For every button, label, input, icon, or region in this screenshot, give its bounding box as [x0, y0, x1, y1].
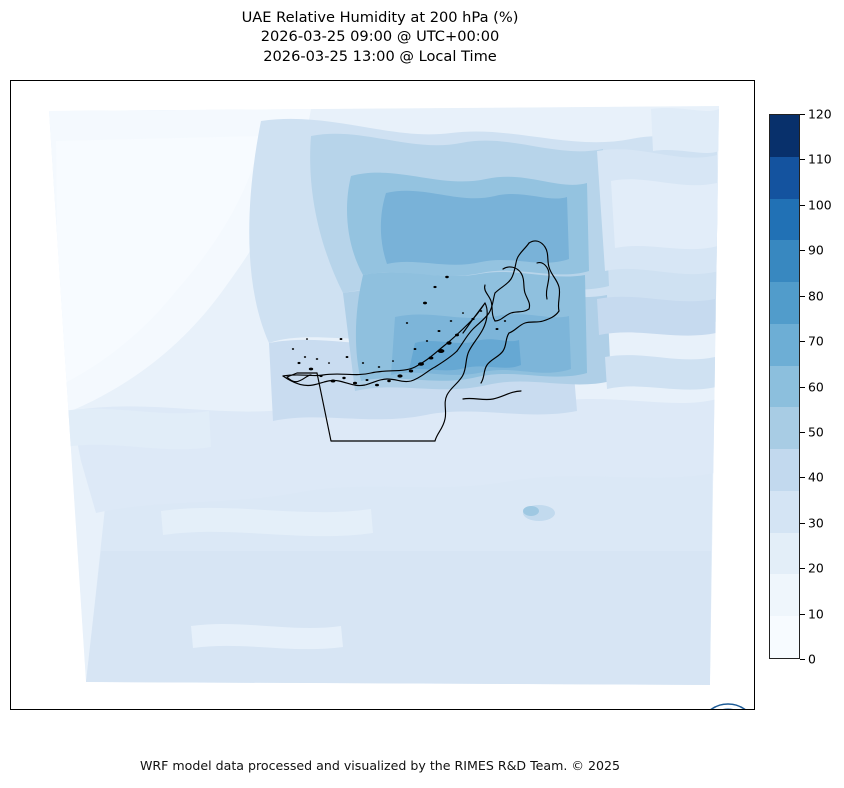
colorbar-band [770, 533, 799, 575]
rimes-logo: International Multi-Hazard Early Warning… [692, 699, 755, 710]
colorbar-axis: 0102030405060708090100110120 [800, 114, 840, 659]
colorbar-band [770, 449, 799, 491]
colorbar-tick-label: 40 [808, 470, 824, 485]
colorbar-band [770, 407, 799, 449]
colorbar-tick [800, 523, 805, 524]
title-line-2: 2026-03-25 09:00 @ UTC+00:00 [0, 27, 760, 46]
colorbar-band [770, 240, 799, 282]
chart-title: UAE Relative Humidity at 200 hPa (%) 202… [0, 8, 760, 66]
title-line-1: UAE Relative Humidity at 200 hPa (%) [0, 8, 760, 27]
colorbar-tick [800, 114, 805, 115]
colorbar-tick-label: 90 [808, 243, 824, 258]
colorbar-tick-label: 110 [808, 152, 832, 167]
colorbar-tick-label: 100 [808, 197, 832, 212]
colorbar-tick-label: 80 [808, 288, 824, 303]
colorbar-band [770, 199, 799, 241]
colorbar-gradient [769, 114, 800, 659]
colorbar: 0102030405060708090100110120 [769, 112, 839, 664]
colorbar-tick-label: 50 [808, 424, 824, 439]
colorbar-tick [800, 387, 805, 388]
colorbar-tick [800, 477, 805, 478]
contour-field [11, 81, 754, 709]
title-line-3: 2026-03-25 13:00 @ Local Time [0, 47, 760, 66]
colorbar-tick-label: 60 [808, 379, 824, 394]
figure-canvas: UAE Relative Humidity at 200 hPa (%) 202… [0, 0, 844, 788]
colorbar-tick [800, 250, 805, 251]
colorbar-tick [800, 659, 805, 660]
colorbar-band [770, 366, 799, 408]
colorbar-band [770, 491, 799, 533]
colorbar-band [770, 324, 799, 366]
colorbar-tick [800, 568, 805, 569]
colorbar-band [770, 282, 799, 324]
colorbar-tick [800, 159, 805, 160]
colorbar-tick-label: 120 [808, 107, 832, 122]
colorbar-band [770, 616, 799, 658]
colorbar-band [770, 115, 799, 157]
humidity-contour-map [11, 81, 754, 709]
colorbar-tick [800, 341, 805, 342]
footer-credit: WRF model data processed and visualized … [0, 758, 760, 773]
colorbar-tick-label: 0 [808, 652, 816, 667]
colorbar-band [770, 574, 799, 616]
map-plot-area: International Multi-Hazard Early Warning… [10, 80, 755, 710]
colorbar-tick [800, 614, 805, 615]
colorbar-tick-label: 20 [808, 561, 824, 576]
colorbar-tick [800, 205, 805, 206]
colorbar-band [770, 157, 799, 199]
colorbar-tick-label: 10 [808, 606, 824, 621]
colorbar-tick-label: 30 [808, 515, 824, 530]
colorbar-tick [800, 296, 805, 297]
colorbar-tick-label: 70 [808, 334, 824, 349]
colorbar-tick [800, 432, 805, 433]
